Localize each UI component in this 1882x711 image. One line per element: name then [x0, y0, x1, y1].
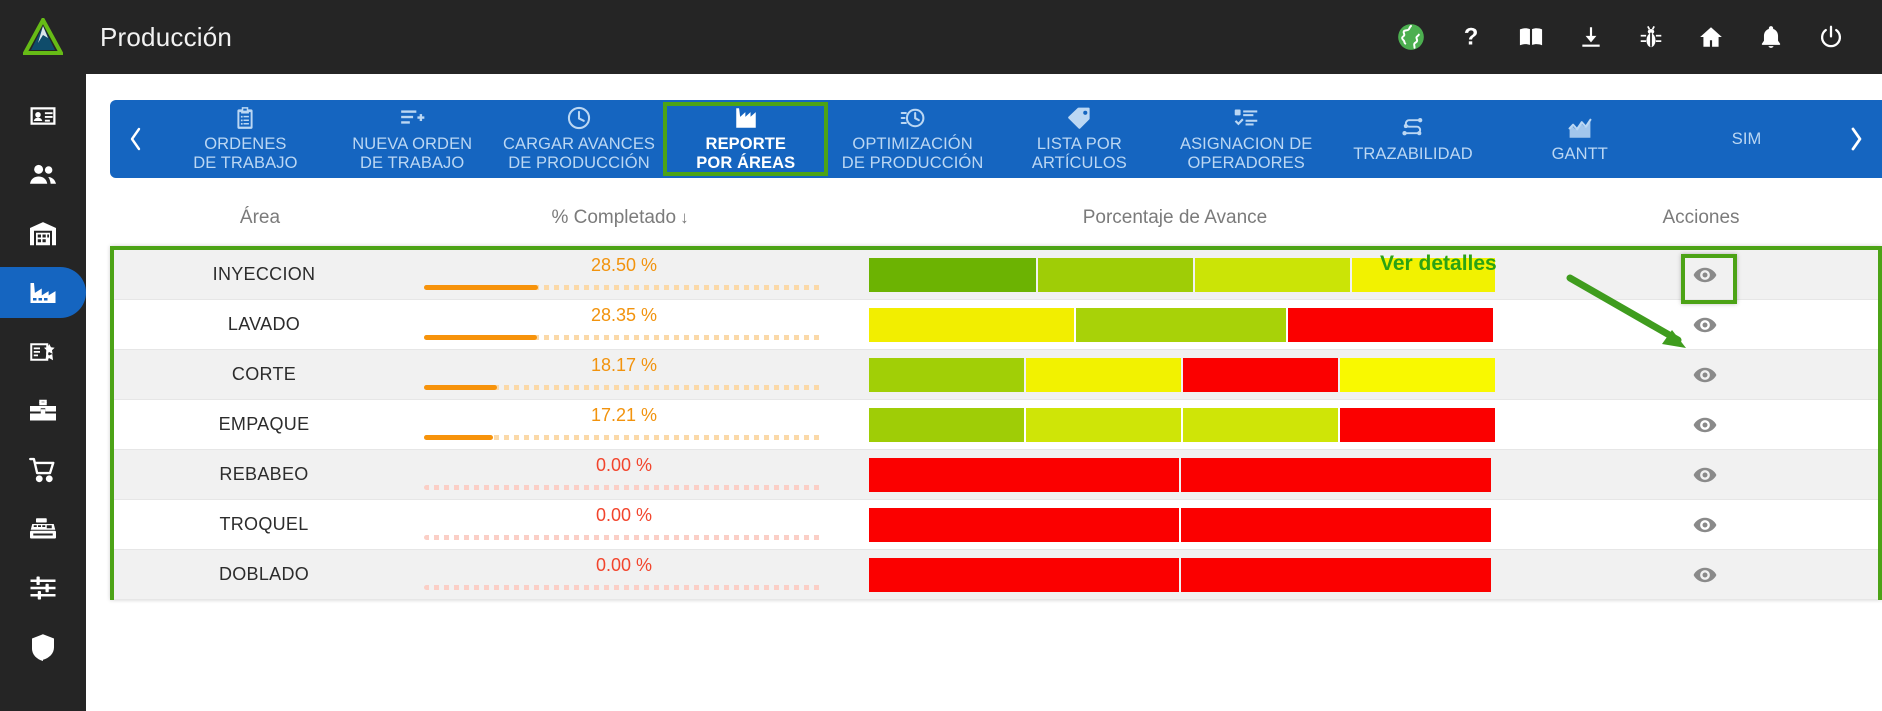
progress-bar-fill — [424, 285, 538, 290]
app-root: Producción ? — [0, 0, 1882, 711]
area-name: LAVADO — [228, 314, 300, 334]
tab-label: TRAZABILIDAD — [1353, 145, 1472, 164]
area-name: TROQUEL — [219, 514, 308, 534]
eye-icon[interactable] — [1690, 562, 1720, 588]
cell-percent-completed: 0.00 % — [414, 500, 834, 550]
list-plus-icon — [398, 105, 426, 131]
table-row[interactable]: TROQUEL0.00 % — [114, 500, 1878, 550]
advance-segment-bar — [869, 458, 1489, 492]
advance-segment — [869, 358, 1024, 392]
areas-report-table: Área % Completado↓ Porcentaje de Avance … — [110, 190, 1882, 600]
column-header-advance[interactable]: Porcentaje de Avance — [830, 207, 1520, 229]
advance-segment-bar — [869, 408, 1489, 442]
svg-text:?: ? — [1464, 24, 1479, 50]
advance-segment — [869, 308, 1074, 342]
sidebar-item-id-card[interactable] — [0, 86, 86, 145]
cell-percent-completed: 28.35 % — [414, 300, 834, 350]
advance-segment — [869, 558, 1179, 592]
cell-advance — [834, 400, 1524, 450]
advance-segment — [1340, 408, 1495, 442]
sidebar-item-sliders[interactable] — [0, 558, 86, 617]
cell-percent-completed: 28.50 % — [414, 250, 834, 300]
cell-area: TROQUEL — [114, 514, 414, 535]
progress-bar — [424, 385, 824, 390]
percent-value: 0.00 % — [414, 455, 834, 476]
eye-icon[interactable] — [1690, 462, 1720, 488]
top-bar: Producción ? — [0, 0, 1882, 74]
table-row[interactable]: EMPAQUE17.21 % — [114, 400, 1878, 450]
percent-value: 28.35 % — [414, 305, 834, 326]
users-icon — [28, 160, 58, 190]
cell-percent-completed: 0.00 % — [414, 550, 834, 600]
advance-segment — [1288, 308, 1493, 342]
tab-reporte-por-areas[interactable]: REPORTE POR ÁREAS — [662, 100, 829, 178]
tabs-prev-button[interactable] — [110, 100, 162, 178]
progress-bar-track — [424, 535, 824, 540]
toolbox-icon — [28, 396, 58, 426]
certificate-icon — [28, 337, 58, 367]
table-row[interactable]: DOBLADO0.00 % — [114, 550, 1878, 600]
home-icon[interactable] — [1694, 20, 1728, 54]
main-content: ORDENES DE TRABAJO NUEVA ORDEN DE TRABAJ… — [86, 74, 1882, 711]
advance-segment — [1076, 308, 1287, 342]
percent-value: 17.21 % — [414, 405, 834, 426]
top-bar-icons: ? — [1394, 20, 1882, 54]
area-name: REBABEO — [219, 464, 308, 484]
eye-icon[interactable] — [1690, 362, 1720, 388]
sidebar-item-warehouse[interactable] — [0, 204, 86, 263]
table-body: INYECCION28.50 %LAVADO28.35 %CORTE18.17 … — [110, 246, 1882, 600]
clock-history-icon — [899, 105, 927, 131]
id-card-icon — [28, 101, 58, 131]
tab-label: REPORTE POR ÁREAS — [696, 135, 795, 173]
cell-actions — [1524, 250, 1882, 300]
cell-area: INYECCION — [114, 264, 414, 285]
cell-area: EMPAQUE — [114, 414, 414, 435]
tab-asignacion-de-operadores[interactable]: ASIGNACION DE OPERADORES — [1163, 100, 1330, 178]
tab-label: NUEVA ORDEN DE TRABAJO — [352, 135, 472, 173]
cell-percent-completed: 18.17 % — [414, 350, 834, 400]
bell-icon[interactable] — [1754, 20, 1788, 54]
percent-value: 28.50 % — [414, 255, 834, 276]
chart-line-icon — [1566, 115, 1594, 141]
area-name: DOBLADO — [219, 564, 309, 584]
tabs-next-button[interactable] — [1830, 100, 1882, 178]
cash-register-icon — [28, 514, 58, 544]
cell-actions — [1524, 450, 1882, 500]
eye-icon[interactable] — [1690, 412, 1720, 438]
advance-segment — [869, 508, 1179, 542]
cell-advance — [834, 350, 1524, 400]
advance-segment — [1038, 258, 1193, 292]
cell-advance — [834, 500, 1524, 550]
progress-bar — [424, 485, 824, 490]
manual-book-icon[interactable] — [1514, 20, 1548, 54]
page-title: Producción — [100, 22, 232, 53]
cell-advance — [834, 450, 1524, 500]
eye-icon[interactable] — [1690, 512, 1720, 538]
table-row[interactable]: REBABEO0.00 % — [114, 450, 1878, 500]
cell-actions — [1524, 350, 1882, 400]
progress-bar-track — [424, 585, 824, 590]
tab-nueva-orden-de-trabajo[interactable]: NUEVA ORDEN DE TRABAJO — [329, 100, 496, 178]
sidebar-item-shield[interactable] — [0, 617, 86, 676]
advance-segment-bar — [869, 358, 1489, 392]
shopping-cart-icon — [28, 455, 58, 485]
progress-bar — [424, 285, 824, 290]
eye-icon[interactable] — [1690, 262, 1720, 288]
advance-segment-bar — [869, 308, 1489, 342]
column-header-completed-label: % Completado — [551, 207, 676, 228]
download-icon[interactable] — [1574, 20, 1608, 54]
tab-label: OPTIMIZACIÓN DE PRODUCCIÓN — [842, 135, 984, 173]
sidebar-item-cart[interactable] — [0, 440, 86, 499]
globe-icon[interactable] — [1394, 20, 1428, 54]
eye-icon[interactable] — [1690, 312, 1720, 338]
sliders-icon — [28, 573, 58, 603]
tab-label: CARGAR AVANCES DE PRODUCCIÓN — [503, 135, 655, 173]
percent-value: 18.17 % — [414, 355, 834, 376]
table-header: Área % Completado↓ Porcentaje de Avance … — [110, 190, 1882, 246]
warehouse-icon — [28, 219, 58, 249]
module-tabs: ORDENES DE TRABAJO NUEVA ORDEN DE TRABAJ… — [110, 100, 1882, 178]
bug-icon[interactable] — [1634, 20, 1668, 54]
column-header-area[interactable]: Área — [110, 207, 410, 229]
shield-icon — [28, 632, 58, 662]
tab-label: GANTT — [1552, 145, 1608, 164]
advance-segment — [869, 408, 1024, 442]
help-icon[interactable]: ? — [1454, 20, 1488, 54]
sidebar-item-toolbox[interactable] — [0, 381, 86, 440]
cell-advance — [834, 550, 1524, 600]
task-check-icon — [1232, 105, 1260, 131]
column-header-completed[interactable]: % Completado↓ — [410, 207, 830, 229]
tabs-list: ORDENES DE TRABAJO NUEVA ORDEN DE TRABAJ… — [162, 100, 1830, 178]
tab-trazabilidad[interactable]: TRAZABILIDAD — [1330, 100, 1497, 178]
tab-label: ORDENES DE TRABAJO — [193, 135, 297, 173]
progress-bar — [424, 535, 824, 540]
area-name: EMPAQUE — [219, 414, 310, 434]
percent-value: 0.00 % — [414, 505, 834, 526]
advance-segment — [1181, 558, 1491, 592]
progress-bar-fill — [424, 335, 537, 340]
cell-area: DOBLADO — [114, 564, 414, 585]
clock-icon — [566, 105, 592, 131]
area-name: CORTE — [232, 364, 296, 384]
tab-optimizacion-de-produccion[interactable]: OPTIMIZACIÓN DE PRODUCCIÓN — [829, 100, 996, 178]
sidebar-item-factory[interactable] — [0, 263, 86, 322]
tab-lista-por-articulos[interactable]: LISTA POR ARTÍCULOS — [996, 100, 1163, 178]
power-icon[interactable] — [1814, 20, 1848, 54]
factory-icon — [732, 105, 760, 131]
progress-bar — [424, 335, 824, 340]
cell-advance — [834, 300, 1524, 350]
cell-actions — [1524, 550, 1882, 600]
advance-segment-bar — [869, 558, 1489, 592]
advance-segment — [1340, 358, 1495, 392]
sidebar — [0, 74, 86, 711]
table-row[interactable]: CORTE18.17 % — [114, 350, 1878, 400]
tab-ordenes-de-trabajo[interactable]: ORDENES DE TRABAJO — [162, 100, 329, 178]
progress-bar-fill — [424, 435, 493, 440]
tab-cargar-avances-de-produccion[interactable]: CARGAR AVANCES DE PRODUCCIÓN — [496, 100, 663, 178]
progress-bar — [424, 585, 824, 590]
annotation-label: Ver detalles — [1380, 252, 1497, 276]
advance-segment — [1183, 408, 1338, 442]
advance-segment-bar — [869, 508, 1489, 542]
advance-segment — [1183, 358, 1338, 392]
cell-percent-completed: 17.21 % — [414, 400, 834, 450]
cell-percent-completed: 0.00 % — [414, 450, 834, 500]
tab-label: SIM — [1732, 130, 1762, 149]
area-name: INYECCION — [213, 264, 316, 284]
cell-area: LAVADO — [114, 314, 414, 335]
advance-segment — [1026, 408, 1181, 442]
sort-descending-icon: ↓ — [680, 208, 689, 227]
cell-area: CORTE — [114, 364, 414, 385]
factory-icon — [28, 278, 58, 308]
tab-label: ASIGNACION DE OPERADORES — [1180, 135, 1312, 173]
cell-actions — [1524, 500, 1882, 550]
cell-actions — [1524, 400, 1882, 450]
advance-segment — [869, 258, 1036, 292]
progress-bar-track — [424, 485, 824, 490]
tab-simulacion[interactable]: SIM — [1663, 100, 1830, 178]
cell-area: REBABEO — [114, 464, 414, 485]
column-header-actions: Acciones — [1520, 207, 1882, 229]
advance-segment — [869, 458, 1179, 492]
advance-segment — [1195, 258, 1350, 292]
progress-bar — [424, 435, 824, 440]
tag-icon — [1066, 105, 1092, 131]
sidebar-item-users[interactable] — [0, 145, 86, 204]
percent-value: 0.00 % — [414, 555, 834, 576]
table-row[interactable]: INYECCION28.50 % — [114, 250, 1878, 300]
clipboard-list-icon — [232, 105, 258, 131]
flow-nodes-icon — [1399, 115, 1427, 141]
app-logo[interactable] — [0, 0, 86, 74]
tab-gantt[interactable]: GANTT — [1496, 100, 1663, 178]
advance-segment — [1181, 508, 1491, 542]
cell-actions — [1524, 300, 1882, 350]
table-row[interactable]: LAVADO28.35 % — [114, 300, 1878, 350]
progress-bar-fill — [424, 385, 497, 390]
advance-segment — [1026, 358, 1181, 392]
sidebar-item-certificate[interactable] — [0, 322, 86, 381]
advance-segment — [1181, 458, 1491, 492]
sidebar-item-cash-register[interactable] — [0, 499, 86, 558]
tab-label: LISTA POR ARTÍCULOS — [1032, 135, 1127, 173]
